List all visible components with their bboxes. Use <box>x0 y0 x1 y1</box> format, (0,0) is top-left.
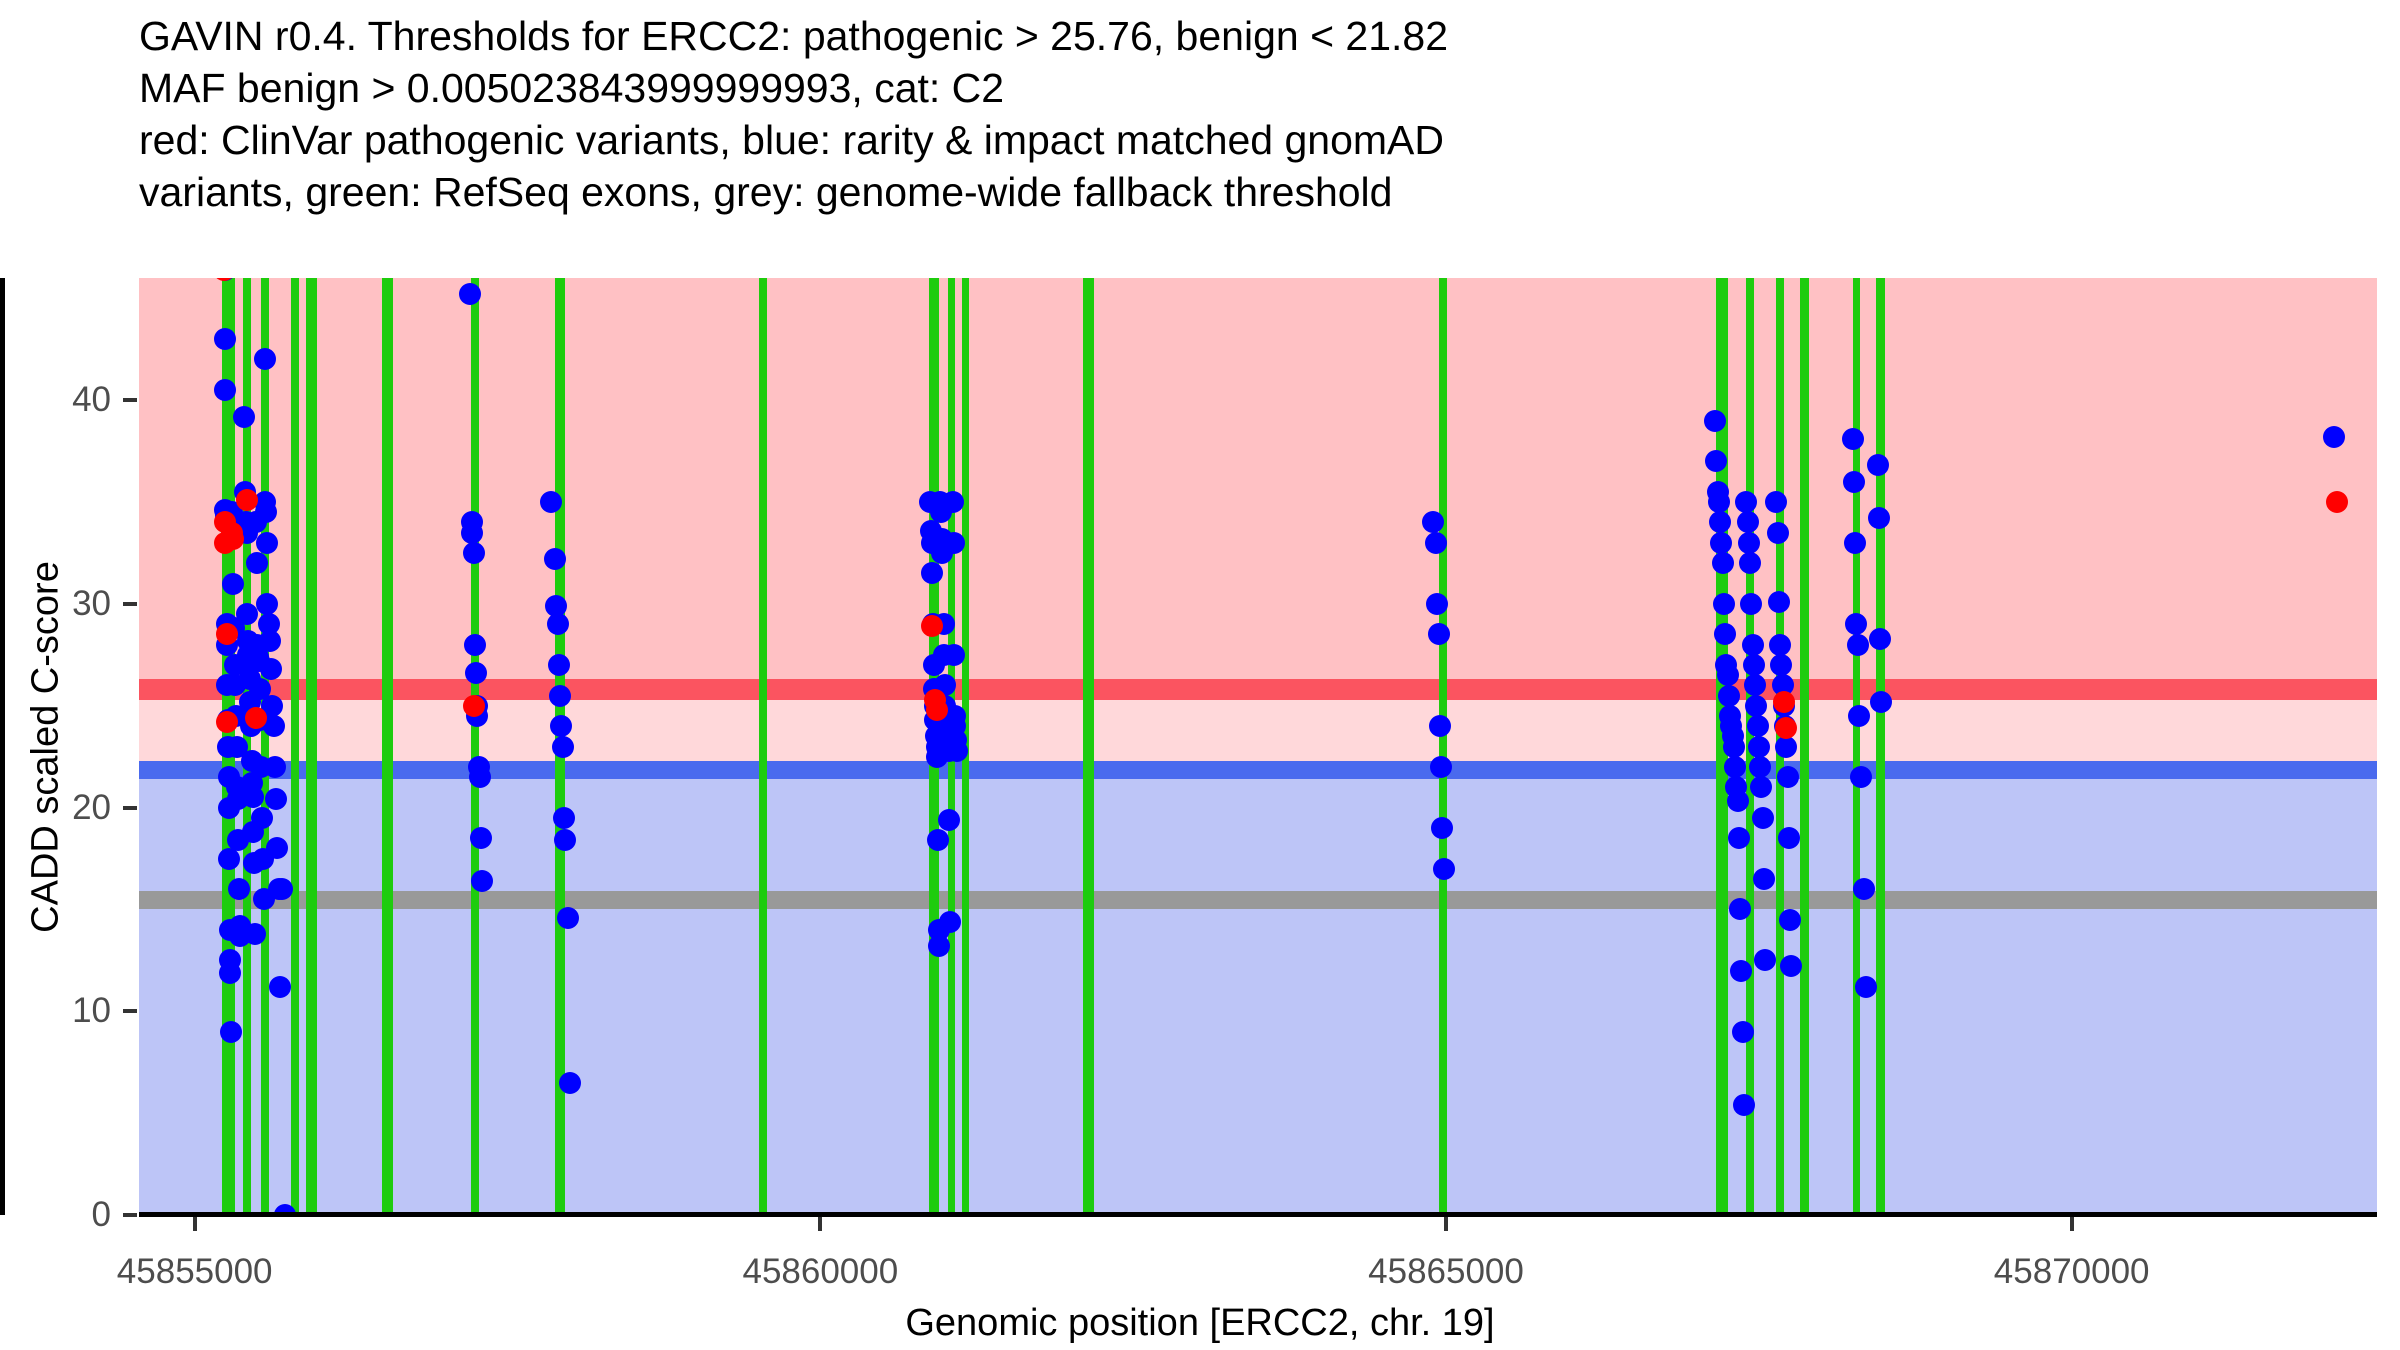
y-tick-label: 0 <box>0 1195 111 1235</box>
x-tick-label: 45865000 <box>1368 1252 1524 1292</box>
gnomad-variant-point <box>1727 790 1749 812</box>
title-line-2: MAF benign > 0.005023843999999993, cat: … <box>139 62 2379 114</box>
gnomad-variant-point <box>1777 766 1799 788</box>
exon-bar <box>759 278 767 1215</box>
exon-bar <box>291 278 299 1215</box>
gnomad-variant-point <box>547 613 569 635</box>
gnomad-variant-point <box>1779 909 1801 931</box>
gnomad-variant-point <box>1747 715 1769 737</box>
y-tick-mark <box>123 1213 137 1217</box>
exon-bar <box>1800 278 1809 1215</box>
gnomad-variant-point <box>1749 756 1771 778</box>
x-axis-line <box>139 1212 2377 1217</box>
gnomad-variant-point <box>260 658 282 680</box>
gnomad-variant-point <box>1752 807 1774 829</box>
gnomad-variant-point <box>1848 705 1870 727</box>
gnomad-variant-point <box>463 542 485 564</box>
gnomad-variant-point <box>1723 736 1745 758</box>
gnomad-variant-point <box>214 379 236 401</box>
gnomad-variant-point <box>1767 522 1789 544</box>
gnomad-variant-point <box>1842 428 1864 450</box>
x-tick-mark <box>193 1217 197 1231</box>
gnomad-variant-point <box>1732 1021 1754 1043</box>
gnomad-variant-point <box>1733 1094 1755 1116</box>
gnomad-variant-point <box>259 630 281 652</box>
gnomad-variant-point <box>220 1021 242 1043</box>
exon-bar <box>306 278 317 1215</box>
gnomad-variant-point <box>1843 471 1865 493</box>
clinvar-pathogenic-point <box>2326 491 2348 513</box>
gnomad-variant-point <box>264 756 286 778</box>
gnomad-variant-point <box>461 522 483 544</box>
gnomad-variant-point <box>1724 756 1746 778</box>
gnomad-variant-point <box>1730 960 1752 982</box>
gnomad-variant-point <box>269 976 291 998</box>
gnomad-variant-point <box>1768 591 1790 613</box>
plot-root: GAVIN r0.4. Thresholds for ERCC2: pathog… <box>0 0 2400 1350</box>
y-tick-mark <box>123 398 137 402</box>
gnomad-variant-point <box>1742 634 1764 656</box>
x-tick-label: 45855000 <box>117 1252 273 1292</box>
gnomad-variant-point <box>1778 827 1800 849</box>
exon-bar <box>1083 278 1094 1215</box>
gnomad-variant-point <box>1769 634 1791 656</box>
gnomad-variant-point <box>246 552 268 574</box>
y-tick-mark <box>123 1009 137 1013</box>
gnomad-variant-point <box>943 532 965 554</box>
gnomad-variant-point <box>233 406 255 428</box>
gnomad-variant-point <box>219 962 241 984</box>
clinvar-pathogenic-point <box>1773 691 1795 713</box>
gnomad-variant-point <box>548 654 570 676</box>
gnomad-variant-point <box>939 911 961 933</box>
gnomad-variant-point <box>1426 593 1448 615</box>
gnomad-variant-point <box>938 809 960 831</box>
gnomad-variant-point <box>228 878 250 900</box>
y-tick-mark <box>123 602 137 606</box>
clinvar-pathogenic-point <box>921 615 943 637</box>
gnomad-variant-point <box>552 736 574 758</box>
gnomad-variant-point <box>256 532 278 554</box>
gnomad-variant-point <box>1748 736 1770 758</box>
gnomad-variant-point <box>214 328 236 350</box>
plot-area <box>139 278 2377 1215</box>
gnomad-variant-point <box>1713 593 1735 615</box>
gnomad-variant-point <box>559 1072 581 1094</box>
plot-title: GAVIN r0.4. Thresholds for ERCC2: pathog… <box>139 10 2379 218</box>
y-axis-label: CADD scaled C-score <box>25 561 68 933</box>
gnomad-variant-point <box>244 923 266 945</box>
gnomad-variant-point <box>1430 756 1452 778</box>
title-line-3: red: ClinVar pathogenic variants, blue: … <box>139 114 2379 166</box>
title-line-1: GAVIN r0.4. Thresholds for ERCC2: pathog… <box>139 10 2379 62</box>
gnomad-variant-point <box>1425 532 1447 554</box>
exon-bar <box>471 278 479 1215</box>
gnomad-variant-point <box>1745 695 1767 717</box>
x-tick-label: 45860000 <box>742 1252 898 1292</box>
gnomad-variant-point <box>1704 410 1726 432</box>
x-tick-label: 45870000 <box>1994 1252 2150 1292</box>
gnomad-variant-point <box>1708 491 1730 513</box>
gnomad-variant-point <box>1737 511 1759 533</box>
gnomad-variant-point <box>222 573 244 595</box>
x-axis-label: Genomic position [ERCC2, chr. 19] <box>0 1302 2400 1345</box>
gnomad-variant-point <box>251 807 273 829</box>
gnomad-variant-point <box>1869 628 1891 650</box>
clinvar-pathogenic-point <box>463 695 485 717</box>
y-tick-label: 40 <box>0 380 111 420</box>
exon-bar <box>382 278 393 1215</box>
title-line-4: variants, green: RefSeq exons, grey: gen… <box>139 166 2379 218</box>
gnomad-variant-point <box>1847 634 1869 656</box>
gnomad-variant-point <box>1844 532 1866 554</box>
gnomad-variant-point <box>549 685 571 707</box>
gnomad-variant-point <box>1853 878 1875 900</box>
x-tick-mark <box>1444 1217 1448 1231</box>
exon-bar <box>1876 278 1885 1215</box>
exon-bar <box>1439 278 1448 1215</box>
x-tick-mark <box>818 1217 822 1231</box>
exon-bar <box>1853 278 1861 1215</box>
gnomad-variant-point <box>553 807 575 829</box>
gnomad-variant-point <box>1710 532 1732 554</box>
gnomad-variant-point <box>1753 868 1775 890</box>
gnomad-variant-point <box>1718 685 1740 707</box>
gnomad-variant-point <box>1867 454 1889 476</box>
y-tick-label: 10 <box>0 991 111 1031</box>
gnomad-variant-point <box>1870 691 1892 713</box>
clinvar-pathogenic-point <box>245 707 267 729</box>
clinvar-pathogenic-point <box>216 623 238 645</box>
clinvar-pathogenic-point <box>926 699 948 721</box>
exon-bar <box>261 278 269 1215</box>
gnomad-variant-point <box>943 644 965 666</box>
gnomad-variant-point <box>256 593 278 615</box>
gnomad-variant-point <box>1712 552 1734 574</box>
gnomad-variant-point <box>1428 623 1450 645</box>
gnomad-variant-point <box>927 829 949 851</box>
gnomad-variant-point <box>1743 654 1765 676</box>
gnomad-variant-point <box>464 634 486 656</box>
gnomad-variant-point <box>1429 715 1451 737</box>
gnomad-variant-point <box>469 766 491 788</box>
gnomad-variant-point <box>1433 858 1455 880</box>
gnomad-variant-point <box>1738 532 1760 554</box>
gnomad-variant-point <box>544 548 566 570</box>
y-tick-mark <box>123 806 137 810</box>
gnomad-variant-point <box>946 740 968 762</box>
x-tick-mark <box>2070 1217 2074 1231</box>
gnomad-variant-point <box>1728 827 1750 849</box>
gnomad-variant-point <box>942 491 964 513</box>
gnomad-variant-point <box>1717 664 1739 686</box>
gnomad-variant-point <box>557 907 579 929</box>
